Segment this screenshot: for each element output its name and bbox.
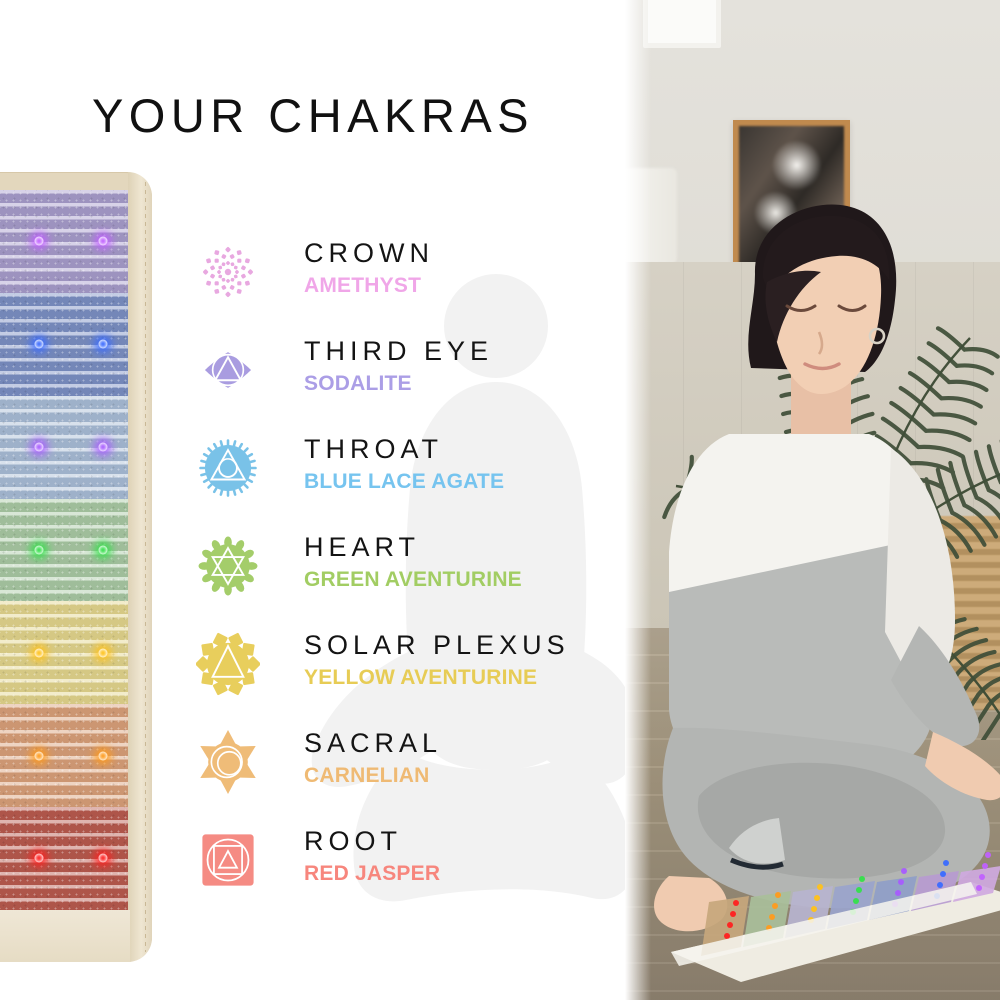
mat-led-light (99, 545, 108, 554)
mat-led-light (34, 648, 43, 657)
chakra-gemstone: SODALITE (304, 371, 493, 397)
chakra-labels: SACRALCARNELIAN (304, 728, 442, 789)
chakra-labels: SOLAR PLEXUSYELLOW AVENTURINE (304, 630, 570, 691)
mat-right-edge (128, 172, 152, 962)
chakra-name: SACRAL (304, 728, 442, 760)
page-title: YOUR CHAKRAS (78, 88, 548, 143)
chakra-name: SOLAR PLEXUS (304, 630, 570, 662)
chakra-gemstone: CARNELIAN (304, 763, 442, 789)
lifestyle-photo (625, 0, 1000, 1000)
chakra-infographic: healthyline YOUR CHAKRAS CROWNAMETHYST T… (0, 0, 1000, 1000)
chakra-gemstone: GREEN AVENTURINE (304, 567, 522, 593)
mat-led-light (99, 648, 108, 657)
chakra-name: HEART (304, 532, 522, 564)
chakra-labels: HEARTGREEN AVENTURINE (304, 532, 522, 593)
mat-crystal-band (0, 190, 130, 293)
mat-crystal-band (0, 807, 130, 910)
window-frame (643, 0, 721, 48)
chakra-row: THROATBLUE LACE AGATE (196, 428, 616, 526)
chakra-labels: ROOTRED JASPER (304, 826, 440, 887)
sacral-crescent-icon (196, 730, 260, 794)
chakra-name: THIRD EYE (304, 336, 493, 368)
third-eye-petal-icon (196, 338, 260, 402)
chakra-row: SOLAR PLEXUSYELLOW AVENTURINE (196, 624, 616, 722)
chakra-gemstone: YELLOW AVENTURINE (304, 665, 570, 691)
mat-stitching (145, 182, 146, 952)
mat-crystal-band (0, 396, 130, 499)
chakra-mat-in-photo (671, 832, 1000, 982)
mat-led-light (34, 545, 43, 554)
mat-led-light (34, 237, 43, 246)
mat-led-light (99, 751, 108, 760)
chakra-labels: CROWNAMETHYST (304, 238, 434, 299)
photo-left-fade (625, 0, 651, 1000)
mat-foot-panel (0, 910, 130, 962)
mat-led-light (99, 237, 108, 246)
mat-led-light (34, 443, 43, 452)
chakra-gemstone: AMETHYST (304, 273, 434, 299)
lotus-mandala-icon (196, 240, 260, 304)
mat-led-light (99, 340, 108, 349)
mat-led-light (99, 443, 108, 452)
chakra-gemstone: RED JASPER (304, 861, 440, 887)
solar-plexus-sun-icon (196, 632, 260, 696)
mat-crystal-band (0, 601, 130, 704)
mat-crystal-area (0, 190, 130, 910)
chakra-list: CROWNAMETHYST THIRD EYESODALITE THROATBL… (196, 232, 616, 918)
chakra-labels: THROATBLUE LACE AGATE (304, 434, 504, 495)
mat-led-light (34, 340, 43, 349)
chakra-row: SACRALCARNELIAN (196, 722, 616, 820)
chakra-labels: THIRD EYESODALITE (304, 336, 493, 397)
throat-circle-icon (196, 436, 260, 500)
mat-crystal-band (0, 293, 130, 396)
root-square-icon (196, 828, 260, 892)
chakra-row: THIRD EYESODALITE (196, 330, 616, 428)
mat-led-light (99, 854, 108, 863)
mat-crystal-band (0, 499, 130, 602)
chakra-name: CROWN (304, 238, 434, 270)
chakra-mat-product-photo: healthyline (0, 172, 152, 962)
chakra-row: HEARTGREEN AVENTURINE (196, 526, 616, 624)
mat-body: healthyline (0, 172, 152, 962)
mat-led-light (34, 854, 43, 863)
chakra-row: CROWNAMETHYST (196, 232, 616, 330)
chakra-row: ROOTRED JASPER (196, 820, 616, 918)
chakra-name: ROOT (304, 826, 440, 858)
chakra-name: THROAT (304, 434, 504, 466)
mat-crystal-band (0, 704, 130, 807)
mat-led-light (34, 751, 43, 760)
heart-hexagram-icon (196, 534, 260, 598)
chakra-gemstone: BLUE LACE AGATE (304, 469, 504, 495)
